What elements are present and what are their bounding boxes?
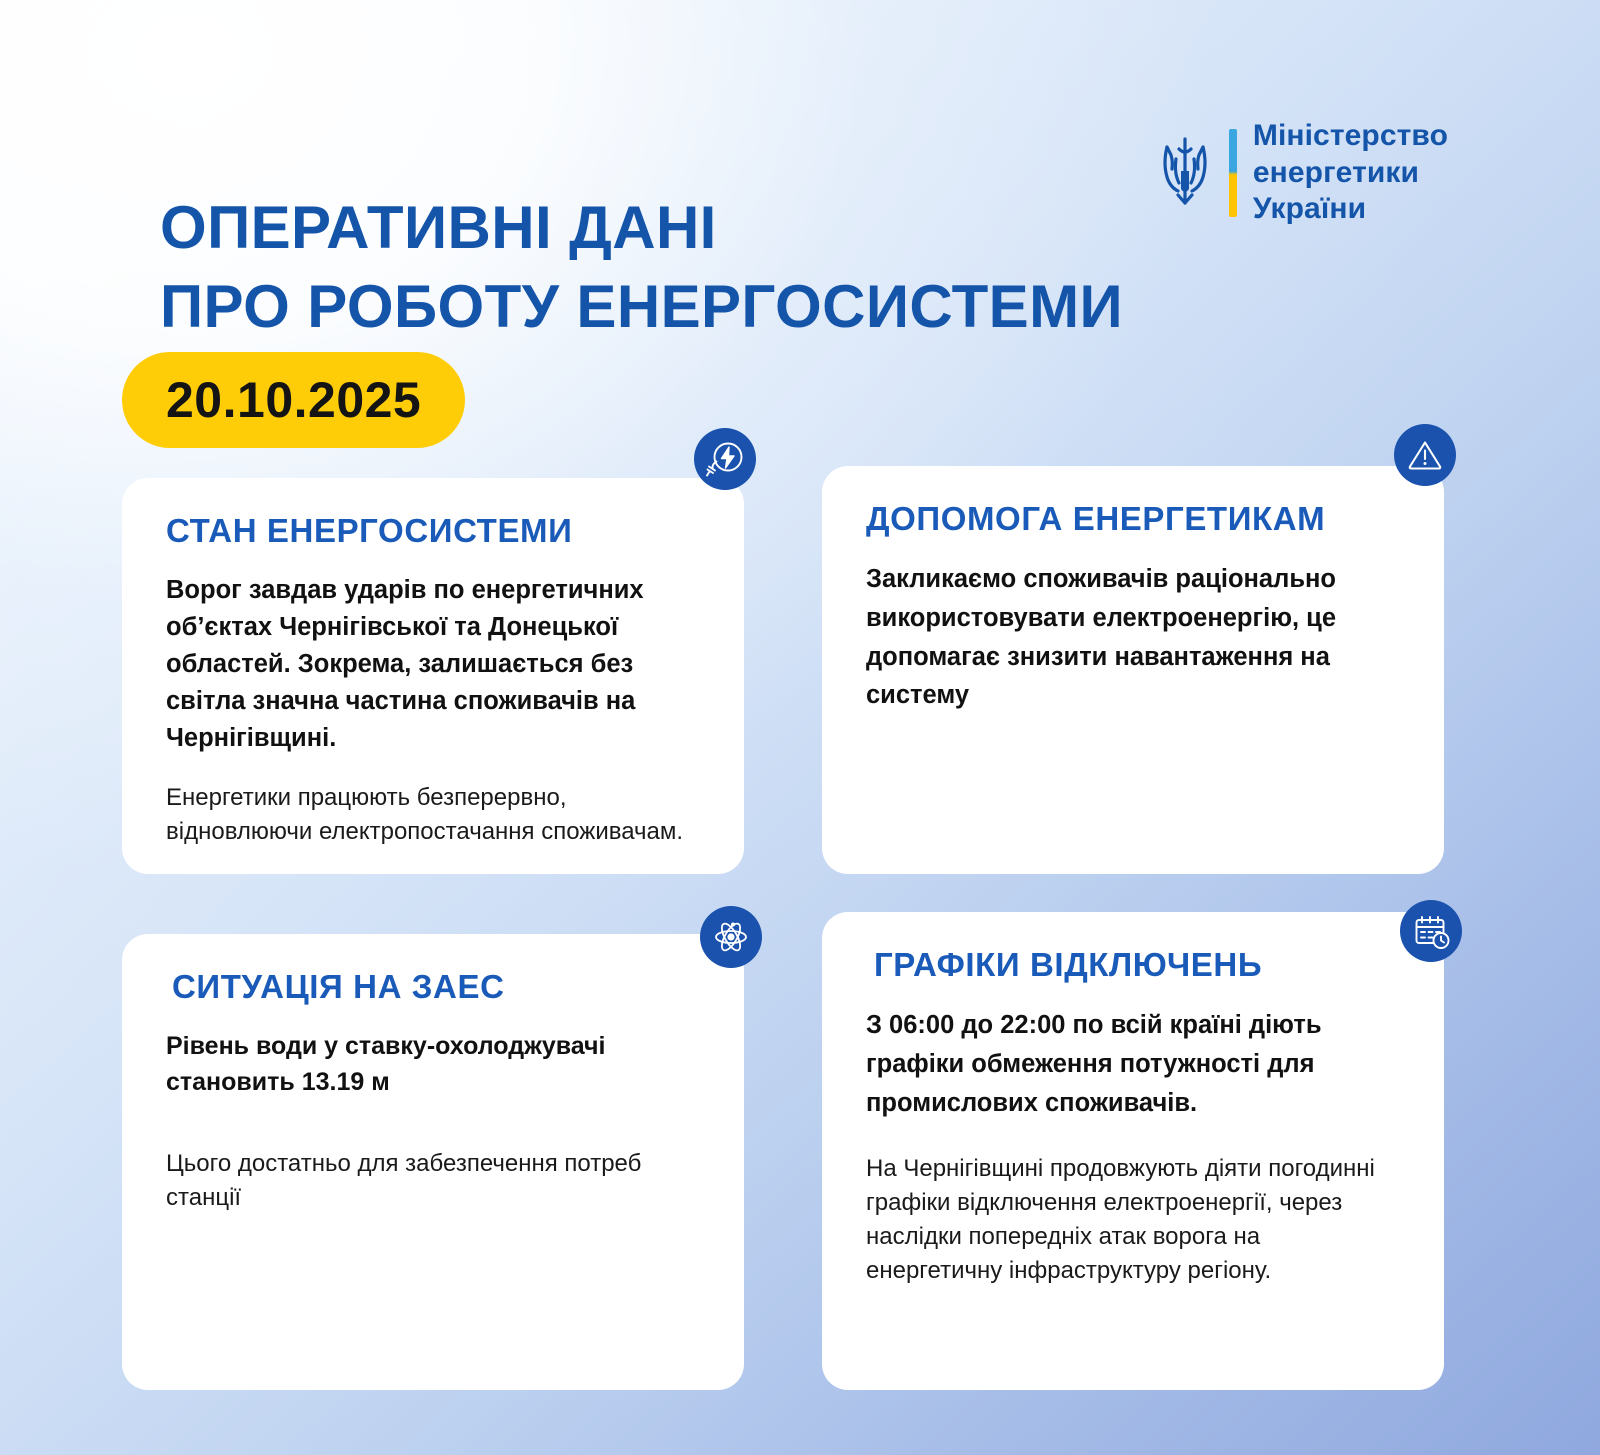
card-zaes-situation: СИТУАЦІЯ НА ЗАЕС Рівень води у ставку-ох… [122, 934, 744, 1390]
card-heading-outage-schedules: ГРАФІКИ ВІДКЛЮЧЕНЬ [874, 946, 1402, 984]
date-badge: 20.10.2025 [122, 352, 465, 448]
card-help-energy-workers: ДОПОМОГА ЕНЕРГЕТИКАМ Закликаємо споживач… [822, 466, 1444, 874]
ministry-logo-line-3: України [1253, 192, 1366, 225]
page-title-line-2: ПРО РОБОТУ ЕНЕРГОСИСТЕМИ [160, 267, 1280, 346]
ministry-logo-line-1: Міністерство [1253, 119, 1448, 152]
card-heading-zaes-situation: СИТУАЦІЯ НА ЗАЕС [172, 968, 702, 1006]
ukraine-trident-icon [1157, 133, 1213, 213]
logo-divider-bar [1229, 129, 1237, 217]
card-body-bold-outage-schedules: З 06:00 до 22:00 по всій країні діють гр… [866, 1006, 1402, 1122]
ministry-logo: Міністерство енергетики України [1157, 118, 1448, 228]
calendar-clock-icon [1400, 900, 1462, 962]
ministry-logo-line-2: енергетики [1253, 156, 1419, 189]
card-body-normal-energy-system-status: Енергетики працюють безперервно, відновл… [166, 781, 702, 849]
infographic-poster: ОПЕРАТИВНІ ДАНІ ПРО РОБОТУ ЕНЕРГОСИСТЕМИ [0, 0, 1600, 1455]
ministry-logo-text: Міністерство енергетики України [1253, 118, 1448, 228]
warning-triangle-icon [1394, 424, 1456, 486]
card-heading-help-energy-workers: ДОПОМОГА ЕНЕРГЕТИКАМ [866, 500, 1402, 538]
card-heading-energy-system-status: СТАН ЕНЕРГОСИСТЕМИ [166, 512, 702, 550]
card-outage-schedules: ГРАФІКИ ВІДКЛЮЧЕНЬ З 06:00 до 22:00 по в… [822, 912, 1444, 1390]
atom-icon [700, 906, 762, 968]
card-body-bold-help-energy-workers: Закликаємо споживачів раціонально викори… [866, 560, 1402, 715]
page-title-line-1: ОПЕРАТИВНІ ДАНІ [160, 188, 1280, 267]
card-body-bold-energy-system-status: Ворог завдав ударів по енергетичних об’є… [166, 572, 702, 757]
page-title: ОПЕРАТИВНІ ДАНІ ПРО РОБОТУ ЕНЕРГОСИСТЕМИ [160, 188, 1280, 346]
card-body-normal-outage-schedules: На Чернігівщині продовжують діяти погоди… [866, 1152, 1402, 1288]
card-energy-system-status: СТАН ЕНЕРГОСИСТЕМИ Ворог завдав ударів п… [122, 478, 744, 874]
card-body-normal-zaes-situation: Цього достатньо для забезпечення потреб … [166, 1147, 702, 1215]
card-body-bold-zaes-situation: Рівень води у ставку-охолоджувачі станов… [166, 1028, 702, 1101]
plug-lightning-icon [694, 428, 756, 490]
